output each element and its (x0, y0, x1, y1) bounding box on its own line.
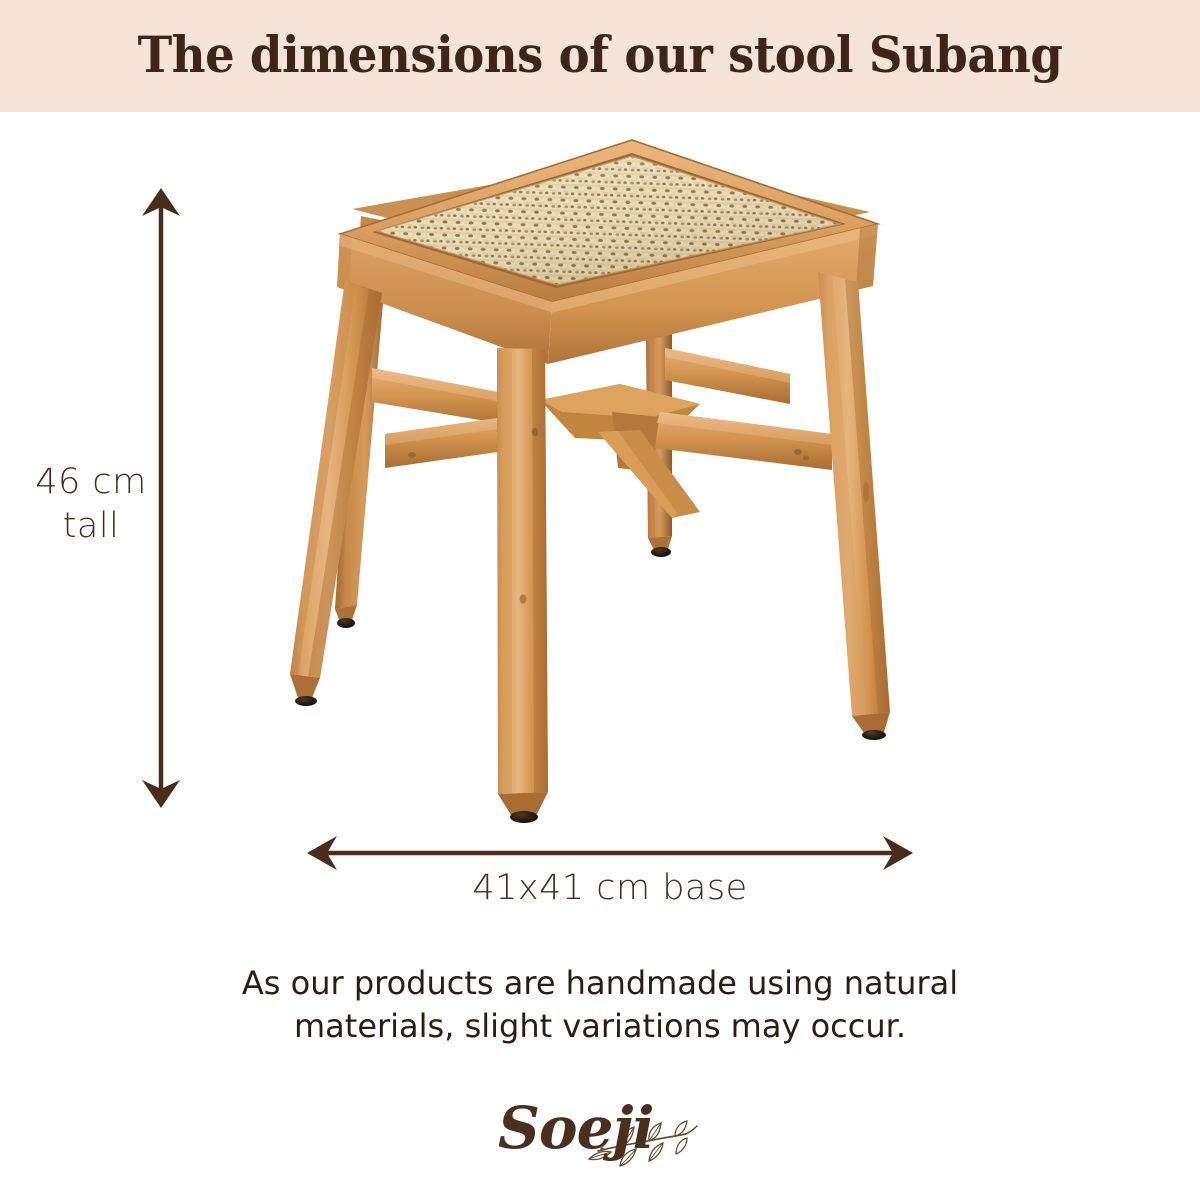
infographic-page: The dimensions of our stool Subang (0, 0, 1200, 1200)
height-label-line-2: tall (30, 504, 152, 548)
stool-leg-front (497, 348, 548, 823)
stool-leg-right (818, 272, 890, 740)
base-label: 41x41 cm base (295, 868, 925, 908)
stretcher-right (655, 412, 832, 470)
foot-glide-front (510, 811, 538, 823)
brand-logo: Soeji (490, 1085, 720, 1180)
brand-wordmark: Soeji (498, 1093, 628, 1163)
foot-glide-left (295, 696, 317, 706)
disclaimer-line-1: As our products are handmade using natur… (150, 962, 1050, 1005)
base-dimension-annotation: 41x41 cm base (295, 830, 925, 920)
foot-glide-right (862, 730, 886, 740)
foot-glide-back-left (337, 618, 355, 628)
height-label-line-1: 46 cm (30, 460, 152, 504)
disclaimer-text: As our products are handmade using natur… (150, 962, 1050, 1048)
stool-leg-left (290, 280, 382, 706)
height-label: 46 cm tall (30, 460, 152, 548)
height-dimension-annotation: 46 cm tall (30, 180, 200, 820)
stretcher-back-right (665, 348, 790, 404)
header-banner: The dimensions of our stool Subang (0, 0, 1200, 112)
disclaimer-line-2: materials, slight variations may occur. (150, 1005, 1050, 1048)
page-title: The dimensions of our stool Subang (42, 0, 1158, 112)
foot-glide-back-right (651, 547, 671, 557)
